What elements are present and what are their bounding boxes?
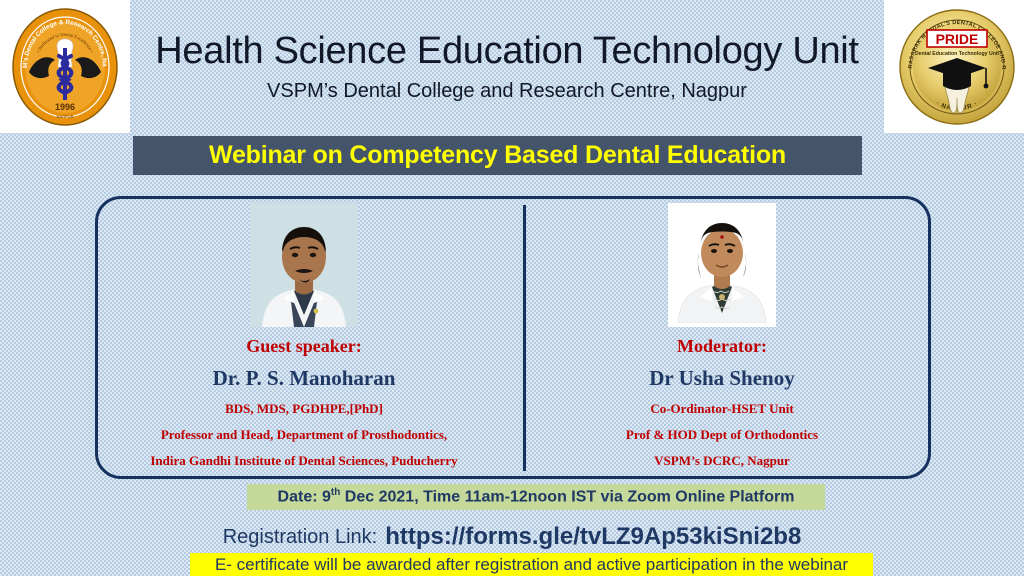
svg-text:PRIDE: PRIDE — [936, 31, 979, 47]
registration-row: Registration Link: https://forms.gle/tvL… — [0, 522, 1024, 552]
left-logo-panel: VSPM’s Dental College & Research Centre,… — [0, 0, 130, 133]
webinar-poster: VSPM’s Dental College & Research Centre,… — [0, 0, 1024, 576]
moderator-credential-2: Prof & HOD Dept of Orthodontics — [626, 427, 818, 443]
svg-text:NAGPUR: NAGPUR — [56, 114, 73, 119]
guest-speaker-credential-1: BDS, MDS, PGDHPE,[PhD] — [225, 401, 383, 417]
right-logo-panel: VIDYA SHIKSHAN PRASARAK MANDAL’S DENTAL … — [884, 0, 1024, 133]
date-prefix: Date: 9 — [278, 489, 331, 506]
page-title: Health Science Education Technology Unit — [155, 30, 858, 74]
date-time-bar: Date: 9th Dec 2021, Time 11am-12noon IST… — [247, 484, 825, 510]
pride-hset-seal-icon: VIDYA SHIKSHAN PRASARAK MANDAL’S DENTAL … — [898, 6, 1010, 128]
moderator-column: Moderator: Dr Usha Shenoy Co-Ordinator-H… — [513, 196, 931, 479]
date-ordinal-suffix: th — [331, 487, 340, 498]
svg-text:1996: 1996 — [55, 102, 75, 112]
moderator-photo — [668, 203, 776, 327]
moderator-role: Moderator: — [677, 336, 767, 357]
svg-text:Dental Education Technology Un: Dental Education Technology Unit — [915, 51, 999, 57]
vspm-dental-college-seal-icon: VSPM’s Dental College & Research Centre,… — [9, 6, 121, 128]
certificate-note-text: E- certificate will be awarded after reg… — [215, 555, 848, 575]
poster-header: VSPM’s Dental College & Research Centre,… — [0, 0, 1024, 133]
header-text-block: Health Science Education Technology Unit… — [130, 0, 884, 133]
banner-title: Webinar on Competency Based Dental Educa… — [209, 141, 786, 170]
date-time-text: Date: 9th Dec 2021, Time 11am-12noon IST… — [278, 487, 795, 506]
certificate-note-strip: E- certificate will be awarded after reg… — [190, 553, 873, 576]
guest-speaker-photo — [250, 203, 358, 327]
moderator-credential-3: VSPM’s DCRC, Nagpur — [654, 453, 790, 469]
webinar-title-banner: Webinar on Competency Based Dental Educa… — [133, 136, 862, 175]
guest-speaker-credential-3: Indira Gandhi Institute of Dental Scienc… — [150, 453, 457, 469]
guest-speaker-role: Guest speaker: — [246, 336, 362, 357]
date-remainder: Dec 2021, Time 11am-12noon IST via Zoom … — [340, 489, 794, 506]
guest-speaker-name: Dr. P. S. Manoharan — [213, 366, 396, 391]
guest-speaker-credential-2: Professor and Head, Department of Prosth… — [161, 427, 447, 443]
moderator-credential-1: Co-Ordinator-HSET Unit — [650, 401, 793, 417]
guest-speaker-column: Guest speaker: Dr. P. S. Manoharan BDS, … — [95, 196, 513, 479]
page-subtitle: VSPM’s Dental College and Research Centr… — [267, 80, 747, 103]
registration-link[interactable]: https://forms.gle/tvLZ9Ap53kiSni2b8 — [385, 523, 801, 551]
registration-label: Registration Link: — [223, 526, 378, 549]
moderator-name: Dr Usha Shenoy — [649, 366, 794, 391]
